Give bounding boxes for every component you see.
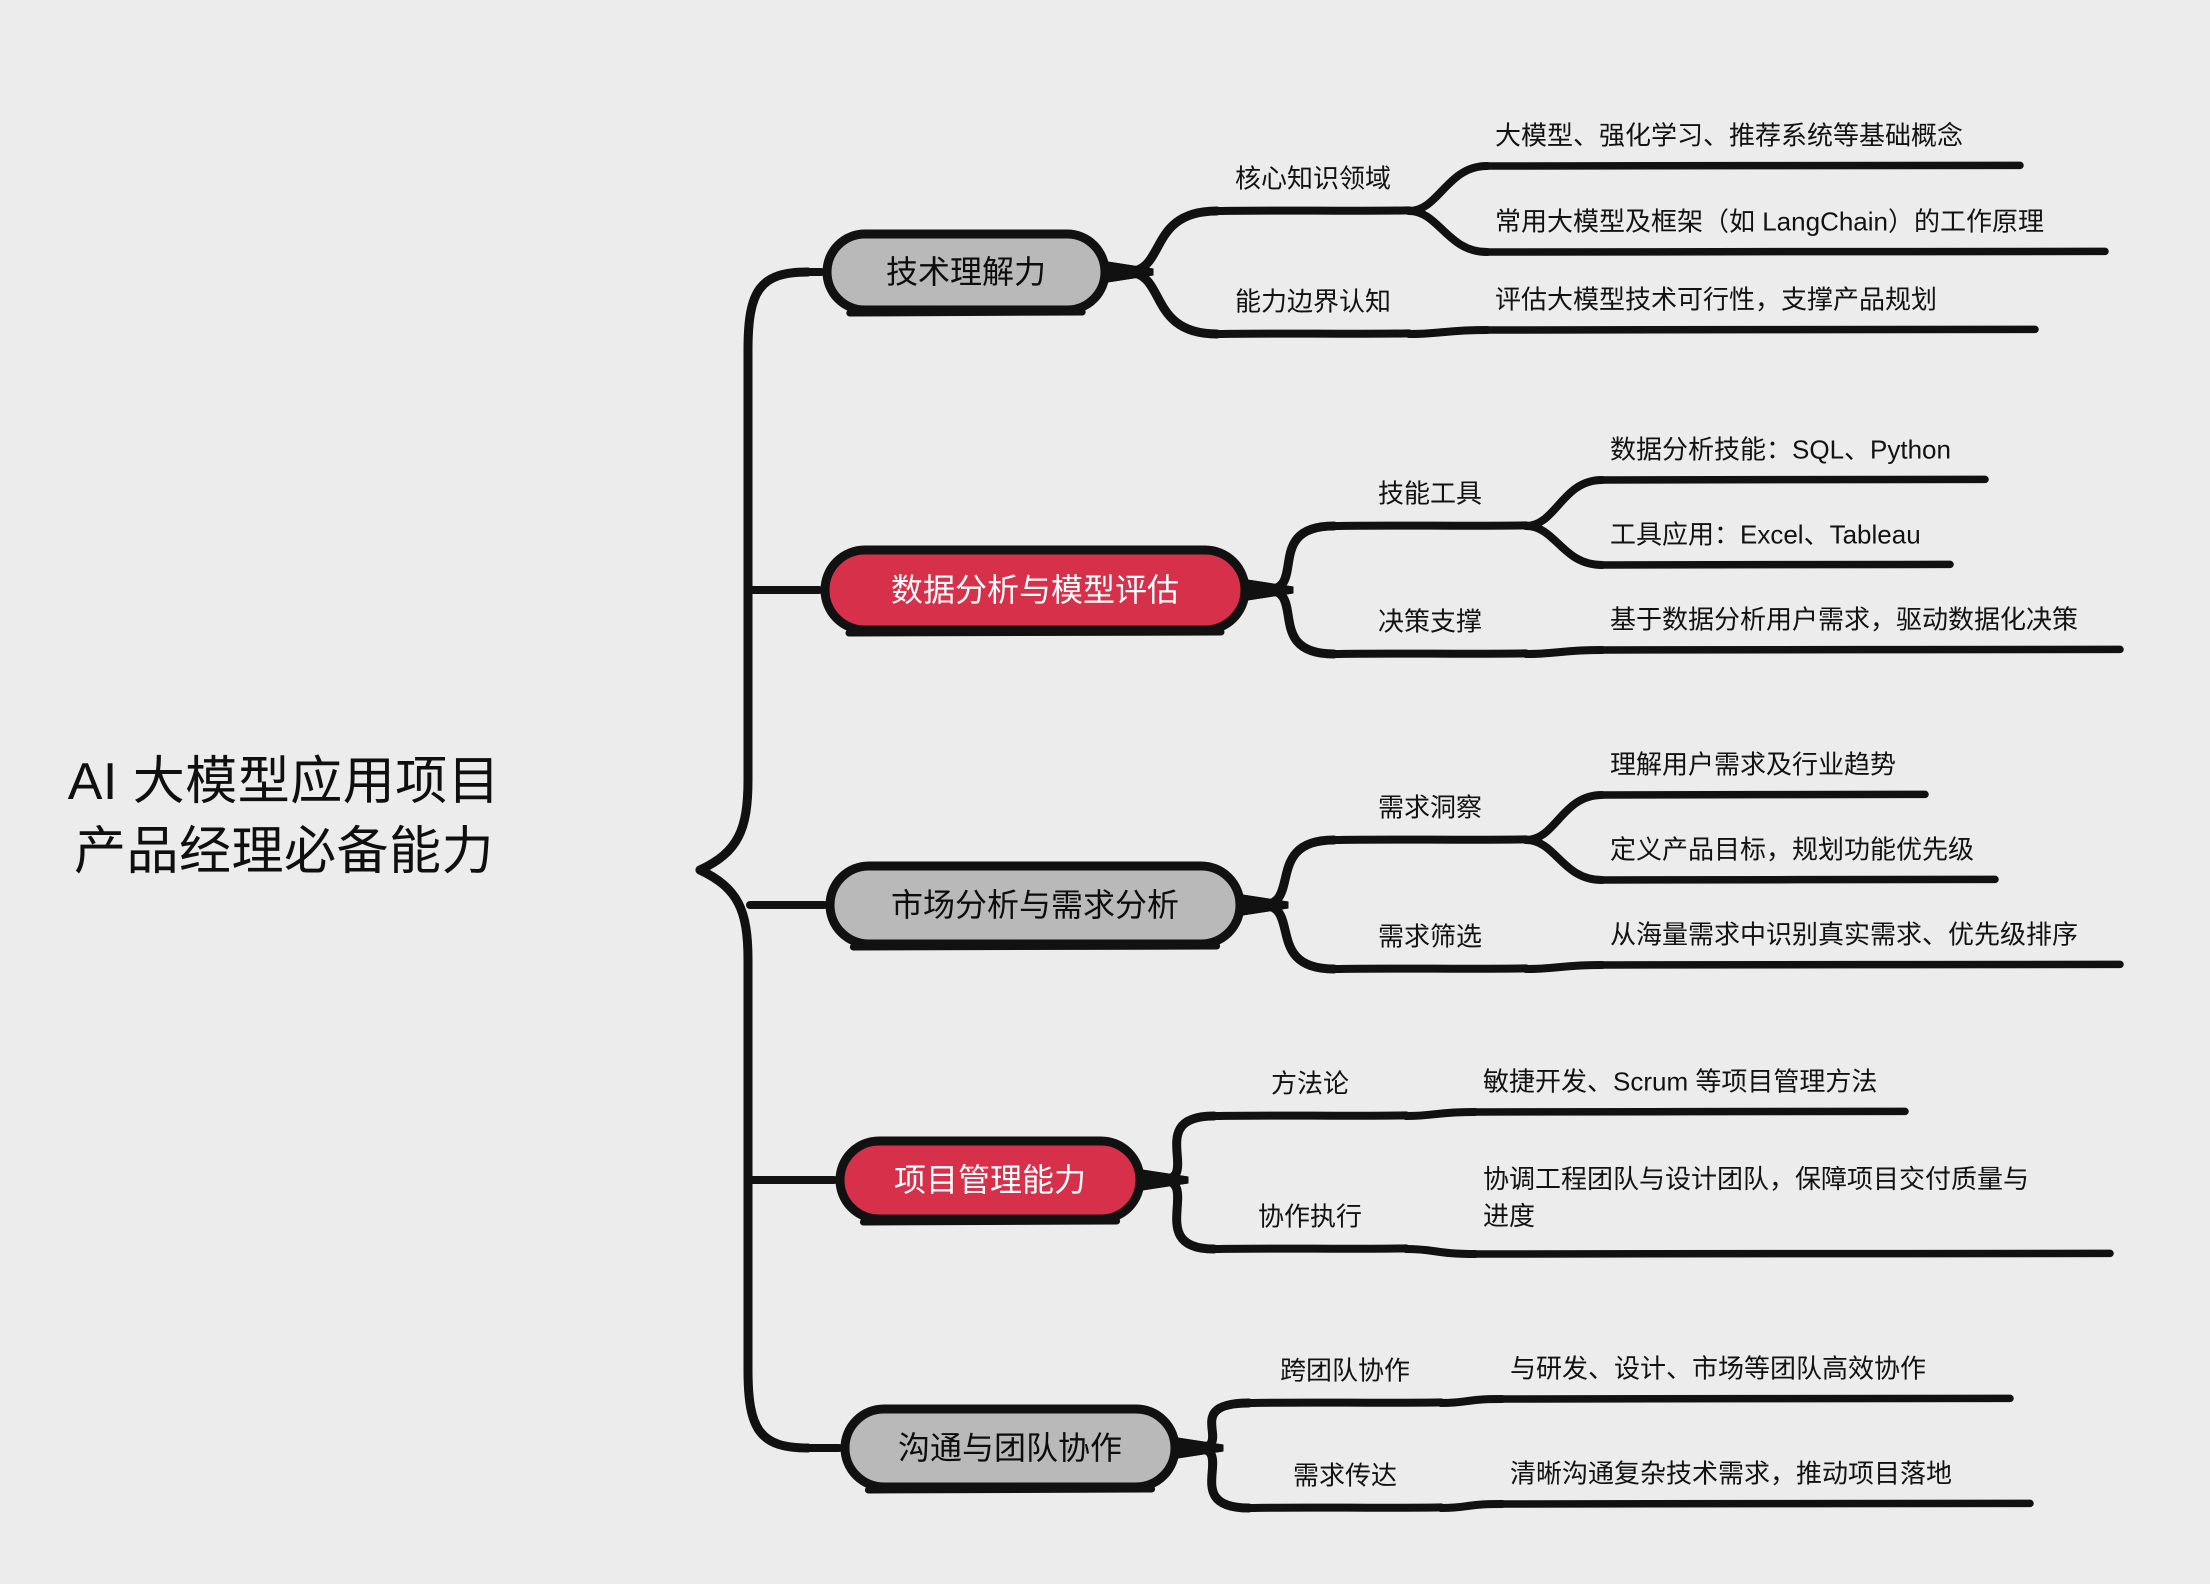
sub-underline [1334, 653, 1526, 654]
leaf-connector [1526, 965, 1602, 969]
branch-node-project-management[interactable] [840, 1141, 1140, 1219]
branch-node-sketch-underline [863, 1221, 1116, 1222]
branch-node-sketch-underline [853, 946, 1216, 947]
leaf-label: 从海量需求中识别真实需求、优先级排序 [1610, 917, 2078, 954]
sub-connector [1127, 272, 1217, 334]
leaf-underline [1602, 479, 1985, 480]
branch-node-data-analysis[interactable] [825, 550, 1245, 630]
sub-underline [1334, 968, 1526, 969]
leaf-underline [1602, 964, 2120, 965]
sub-label: 能力边界认知 [1235, 282, 1391, 319]
sub-label: 跨团队协作 [1280, 1351, 1410, 1388]
sub-label: 方法论 [1271, 1064, 1349, 1101]
sub-connector [1162, 1180, 1214, 1249]
leaf-connector [1409, 211, 1487, 252]
sub-label: 需求传达 [1293, 1456, 1397, 1493]
sub-label: 技能工具 [1378, 474, 1482, 511]
leaf-underline [1602, 649, 2120, 650]
leaf-underline [1475, 1253, 2110, 1254]
sub-underline [1214, 1248, 1406, 1249]
leaf-underline [1502, 1398, 2010, 1399]
leaf-label: 数据分析技能：SQL、Python [1610, 432, 1951, 469]
leaf-connector [1526, 526, 1602, 565]
sub-connector [1267, 590, 1334, 654]
branch-node-market-analysis[interactable] [830, 866, 1240, 944]
branch-node-sketch-underline [849, 632, 1221, 633]
leaf-label: 协调工程团队与设计团队，保障项目交付质量与 进度 [1483, 1161, 2029, 1235]
sub-connector [1267, 526, 1334, 590]
leaf-label: 工具应用：Excel、Tableau [1610, 517, 1921, 554]
sub-connector [1197, 1448, 1249, 1508]
leaf-connector [1441, 1504, 1502, 1508]
sub-connector [1197, 1403, 1249, 1448]
sub-label: 需求筛选 [1378, 917, 1482, 954]
sub-underline [1249, 1507, 1441, 1508]
root-title: AI 大模型应用项目 产品经理必备能力 [0, 748, 584, 887]
sub-label: 决策支撑 [1378, 602, 1482, 639]
sub-underline [1217, 210, 1409, 211]
leaf-connector [1409, 330, 1487, 334]
sub-underline [1249, 1402, 1441, 1403]
leaf-label: 基于数据分析用户需求，驱动数据化决策 [1610, 602, 2078, 639]
leaf-underline [1602, 564, 1950, 565]
branch-node-communication[interactable] [845, 1409, 1175, 1487]
sub-label: 协作执行 [1258, 1197, 1362, 1234]
branch-node-sketch-underline [850, 312, 1082, 313]
leaf-underline [1487, 329, 2035, 330]
sub-label: 核心知识领域 [1235, 159, 1391, 196]
leaf-connector [1441, 1399, 1502, 1403]
leaf-connector [1526, 480, 1602, 526]
leaf-underline [1602, 794, 1925, 795]
mindmap-canvas: AI 大模型应用项目 产品经理必备能力 技术理解力核心知识领域大模型、强化学习、… [0, 0, 2210, 1584]
sub-underline [1217, 333, 1409, 334]
leaf-underline [1602, 879, 1995, 880]
sub-underline [1214, 1115, 1406, 1116]
leaf-connector [1406, 1112, 1475, 1116]
root-brace-upper [700, 272, 808, 870]
leaf-underline [1487, 251, 2105, 252]
sub-connector [1262, 905, 1334, 969]
leaf-label: 定义产品目标，规划功能优先级 [1610, 832, 1974, 869]
leaf-underline [1487, 165, 2020, 166]
leaf-label: 评估大模型技术可行性，支撑产品规划 [1495, 282, 1937, 319]
sub-connector [1127, 211, 1217, 272]
root-brace-lower [700, 870, 808, 1448]
leaf-label: 大模型、强化学习、推荐系统等基础概念 [1495, 118, 1963, 155]
leaf-underline [1502, 1503, 2030, 1504]
leaf-label: 理解用户需求及行业趋势 [1610, 747, 1896, 784]
leaf-connector [1406, 1249, 1475, 1254]
leaf-underline [1475, 1111, 1905, 1112]
leaf-label: 清晰沟通复杂技术需求，推动项目落地 [1510, 1456, 1952, 1493]
leaf-connector [1526, 840, 1602, 880]
leaf-label: 敏捷开发、Scrum 等项目管理方法 [1483, 1064, 1877, 1101]
sub-connector [1162, 1116, 1214, 1180]
sub-label: 需求洞察 [1378, 788, 1482, 825]
branch-node-sketch-underline [868, 1489, 1151, 1490]
sub-underline [1334, 839, 1526, 840]
leaf-connector [1409, 166, 1487, 211]
sub-connector [1262, 840, 1334, 905]
leaf-connector [1526, 795, 1602, 840]
leaf-label: 常用大模型及框架（如 LangChain）的工作原理 [1495, 204, 2044, 241]
leaf-label: 与研发、设计、市场等团队高效协作 [1510, 1351, 1926, 1388]
sub-underline [1334, 525, 1526, 526]
branch-node-tech-understanding[interactable] [827, 234, 1105, 310]
leaf-connector [1526, 650, 1602, 654]
